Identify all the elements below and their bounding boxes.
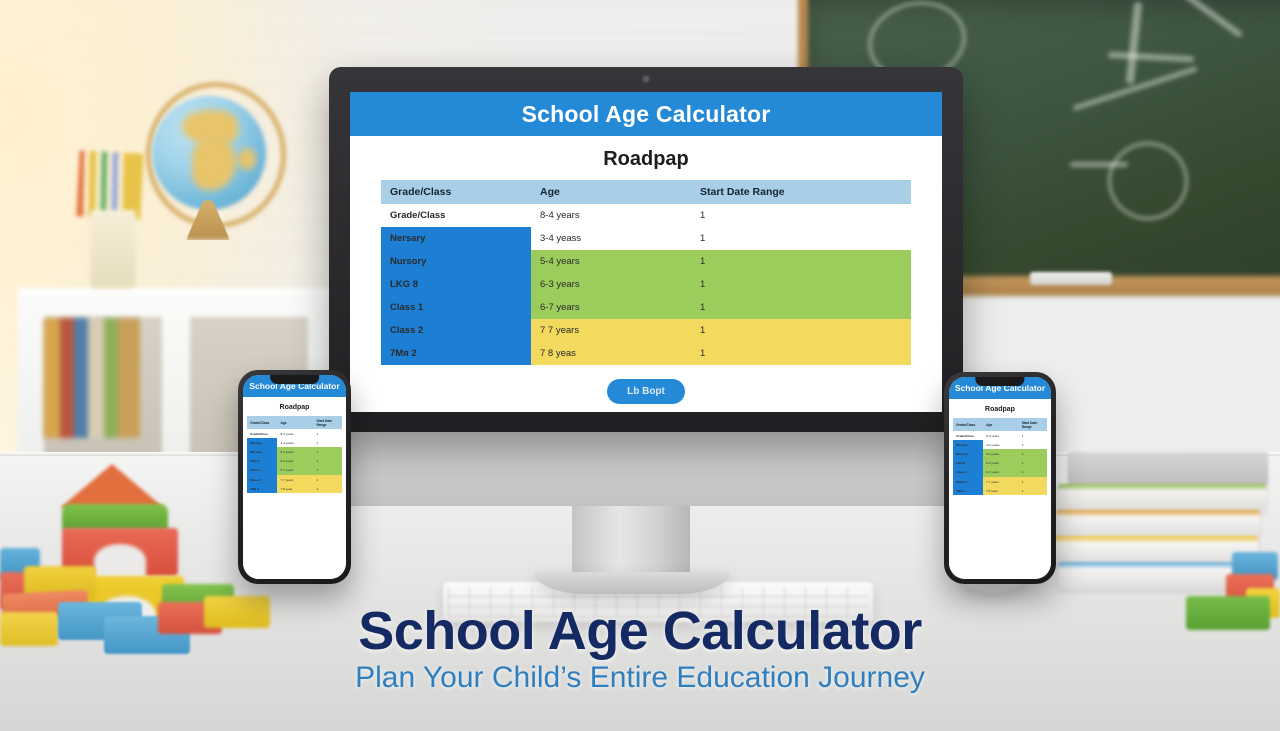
cell-age: 8-4 years [531, 204, 691, 227]
pencil-cup [90, 210, 136, 288]
cell-grade: Grade/Class [953, 431, 983, 440]
table-header-row: Grade/Class Age Start Date Range [247, 416, 342, 429]
cell-start-date: 1 [313, 484, 341, 493]
table-header-row: Grade/Class Age Start Date Range [381, 180, 911, 204]
roadmap-table-body: Grade/Class8-4 years1Nersary3-4 yeass1Nu… [953, 431, 1047, 495]
table-row: Nersary3-4 yeass1 [953, 440, 1047, 449]
table-row: Class 27 7 years1 [247, 475, 342, 484]
cell-start-date: 1 [313, 447, 341, 456]
column-header-grade: Grade/Class [381, 180, 531, 204]
imac-screen: School Age Calculator Roadpap Grade/Clas… [350, 92, 942, 412]
cell-start-date: 1 [1019, 431, 1047, 440]
page-title: Roadpap [350, 148, 942, 171]
cell-grade: Nursory [247, 447, 277, 456]
cell-grade: 7Mя 2 [381, 342, 531, 365]
phone-left-screen: School Age Calculator Roadpap Grade/Clas… [243, 375, 346, 579]
cell-age: 7 8 yeas [983, 486, 1019, 495]
roadmap-table-body: Grade/Class8-4 years1Nersary3-4 yeass1Nu… [381, 204, 911, 365]
phone-left: School Age Calculator Roadpap Grade/Clas… [238, 370, 351, 584]
table-row: LKG 86-3 years1 [953, 459, 1047, 468]
cell-start-date: 1 [313, 475, 341, 484]
cell-age: 6-3 years [277, 457, 313, 466]
cell-start-date: 1 [691, 273, 911, 296]
table-row: LKG 86-3 years1 [381, 273, 911, 296]
cell-age: 5-4 years [983, 449, 1019, 458]
cell-start-date: 1 [313, 457, 341, 466]
table-row: Nursory5-4 years1 [247, 447, 342, 456]
cell-age: 7 7 years [983, 477, 1019, 486]
headline-subtitle: Plan Your Child’s Entire Education Journ… [0, 661, 1280, 694]
table-row: Grade/Class8-4 years1 [381, 204, 911, 227]
phone-right-screen: School Age Calculator Roadpap Grade/Clas… [949, 377, 1051, 579]
toy-block-green-arch [62, 504, 168, 530]
app-body-phone-left: Roadpap Grade/Class Age Start Date Range [243, 397, 346, 579]
cell-age: 7 7 years [531, 319, 691, 342]
column-header-grade: Grade/Class [953, 418, 983, 431]
phone-right: School Age Calculator Roadpap Grade/Clas… [944, 372, 1056, 584]
cell-grade: Nursory [953, 449, 983, 458]
cell-start-date: 1 [1019, 486, 1047, 495]
chalk-eraser [1030, 272, 1112, 285]
imac-chin [318, 432, 974, 506]
webcam-icon [643, 76, 649, 82]
headline-title: School Age Calculator [0, 604, 1280, 659]
cell-grade: Nersary [381, 227, 531, 250]
book-stack-top [1068, 452, 1268, 486]
cell-grade: Class 1 [953, 468, 983, 477]
cell-start-date: 1 [1019, 468, 1047, 477]
phone-notch [270, 375, 320, 384]
column-header-start-date: Start Date Range [1019, 418, 1047, 431]
cell-age: 8-4 years [277, 429, 313, 438]
table-row: Grade/Class8-4 years1 [247, 429, 342, 438]
app-window-phone-right: School Age Calculator Roadpap Grade/Clas… [949, 377, 1051, 579]
table-row: Class 16-7 years1 [381, 296, 911, 319]
phone-right-body: School Age Calculator Roadpap Grade/Clas… [944, 372, 1056, 584]
cell-age: 3-4 yeass [277, 438, 313, 447]
cell-age: 6-7 years [531, 296, 691, 319]
table-row: Class 16-7 years1 [953, 468, 1047, 477]
cell-age: 3-4 yeass [983, 440, 1019, 449]
roadmap-table: Grade/Class Age Start Date Range Grade/C… [953, 418, 1047, 495]
cell-start-date: 1 [313, 429, 341, 438]
cell-start-date: 1 [1019, 440, 1047, 449]
table-row: Grade/Class8-4 years1 [953, 431, 1047, 440]
book-orange-edge [1056, 510, 1260, 538]
toy-arch-opening [94, 544, 146, 578]
column-header-age: Age [277, 416, 313, 429]
imac-bezel: School Age Calculator Roadpap Grade/Clas… [329, 67, 963, 432]
cell-start-date: 1 [1019, 449, 1047, 458]
cell-start-date: 1 [691, 319, 911, 342]
app-body-phone-right: Roadpap Grade/Class Age Start Date Range [949, 399, 1051, 579]
phone-left-body: School Age Calculator Roadpap Grade/Clas… [238, 370, 351, 584]
cell-age: 5-4 years [277, 447, 313, 456]
table-row: 7Mя 27 8 yeas1 [247, 484, 342, 493]
table-row: Nursory5-4 years1 [381, 250, 911, 273]
table-row: Nersary3-4 yeass1 [381, 227, 911, 250]
globe-icon [152, 96, 266, 210]
phone-notch [975, 377, 1024, 386]
column-header-start-date: Start Date Range [313, 416, 341, 429]
cell-age: 3-4 yeass [531, 227, 691, 250]
cell-grade: Class 2 [953, 477, 983, 486]
app-window-desktop: School Age Calculator Roadpap Grade/Clas… [350, 92, 942, 412]
button-row: Lb Bopt [350, 379, 942, 404]
cell-age: 6-3 years [983, 459, 1019, 468]
roadmap-table: Grade/Class Age Start Date Range Grade/C… [381, 180, 911, 365]
toy-block-triangle [60, 464, 164, 508]
roadmap-table-body: Grade/Class8-4 years1Nersary3-4 yeass1Nu… [247, 429, 342, 493]
chalk-doodle-circle [1108, 142, 1188, 220]
cell-start-date: 1 [1019, 459, 1047, 468]
column-header-start-date: Start Date Range [691, 180, 911, 204]
cell-grade: Nersary [953, 440, 983, 449]
cell-age: 7 8 yeas [531, 342, 691, 365]
cell-age: 6-7 years [277, 466, 313, 475]
cell-age: 6-7 years [983, 468, 1019, 477]
cell-age: 7 7 years [277, 475, 313, 484]
shelf-books [44, 318, 140, 438]
table-row: 7Mя 27 8 yeas1 [953, 486, 1047, 495]
table-row: Class 16-7 years1 [247, 466, 342, 475]
app-header: School Age Calculator [350, 92, 942, 136]
cell-age: 6-3 years [531, 273, 691, 296]
cell-grade: LKG 8 [247, 457, 277, 466]
column-header-age: Age [531, 180, 691, 204]
page-title: Roadpap [949, 406, 1051, 413]
app-window-phone-left: School Age Calculator Roadpap Grade/Clas… [243, 375, 346, 579]
cell-grade: 7Mя 2 [247, 484, 277, 493]
imac-desktop: School Age Calculator Roadpap Grade/Clas… [329, 67, 963, 432]
globe-landmass [192, 138, 236, 190]
cell-start-date: 1 [691, 204, 911, 227]
cell-start-date: 1 [313, 438, 341, 447]
table-row: LKG 86-3 years1 [247, 457, 342, 466]
globe-landmass [238, 148, 256, 170]
chalk-scribble [1072, 66, 1197, 111]
app-header-title: School Age Calculator [522, 101, 771, 128]
cell-grade: Class 1 [247, 466, 277, 475]
table-row: Nursory5-4 years1 [953, 449, 1047, 458]
chalk-scribble [1070, 162, 1128, 167]
table-row: Class 27 7 years1 [381, 319, 911, 342]
table-row: Class 27 7 years1 [953, 477, 1047, 486]
cell-age: 8-4 years [983, 431, 1019, 440]
cell-grade: Nursory [381, 250, 531, 273]
cell-grade: Grade/Class [247, 429, 277, 438]
table-row: 7Mя 27 8 yeas1 [381, 342, 911, 365]
book-green-edge [1058, 484, 1266, 512]
cell-grade: Class 1 [381, 296, 531, 319]
column-header-age: Age [983, 418, 1019, 431]
headline-block: School Age Calculator Plan Your Child’s … [0, 604, 1280, 694]
marketing-mockup-stage: School Age Calculator Roadpap Grade/Clas… [0, 0, 1280, 731]
column-header-grade: Grade/Class [247, 416, 277, 429]
cell-start-date: 1 [691, 342, 911, 365]
cell-grade: LKG 8 [953, 459, 983, 468]
cell-grade: Grade/Class [381, 204, 531, 227]
cell-start-date: 1 [691, 296, 911, 319]
cell-grade: Class 2 [381, 319, 531, 342]
chalk-scribble [1126, 2, 1143, 84]
imac-foot [534, 572, 730, 594]
cell-grade: Class 2 [247, 475, 277, 484]
roadmap-table: Grade/Class Age Start Date Range Grade/C… [247, 416, 342, 493]
cell-start-date: 1 [313, 466, 341, 475]
cell-grade: 7Mя 2 [953, 486, 983, 495]
cell-start-date: 1 [691, 227, 911, 250]
chalk-scribble [1108, 52, 1194, 62]
chalk-scribble [1183, 0, 1243, 38]
cell-start-date: 1 [691, 250, 911, 273]
cell-grade: LKG 8 [381, 273, 531, 296]
cell-age: 7 8 yeas [277, 484, 313, 493]
page-title: Roadpap [243, 404, 346, 411]
table-row: Nersary3-4 yeass1 [247, 438, 342, 447]
table-header-row: Grade/Class Age Start Date Range [953, 418, 1047, 431]
cell-age: 5-4 years [531, 250, 691, 273]
cell-grade: Nersary [247, 438, 277, 447]
book-yellow-edge [1052, 536, 1258, 564]
cell-start-date: 1 [1019, 477, 1047, 486]
calculate-button[interactable]: Lb Bopt [607, 379, 685, 404]
app-body: Roadpap Grade/Class Age Start Date Range [350, 136, 942, 412]
